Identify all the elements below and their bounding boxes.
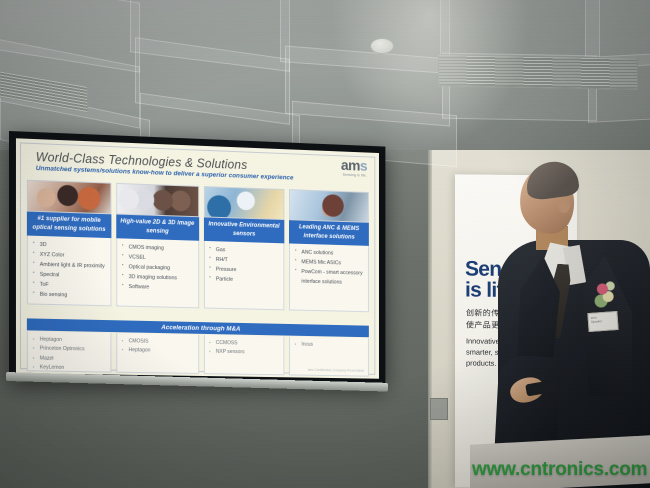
ma-column-imaging: CMOSIS Heptagon — [116, 333, 199, 374]
list-item: PowCom - smart accessory interface solut… — [295, 267, 365, 288]
presentation-slide: World-Class Technologies & Solutions Unm… — [16, 138, 379, 378]
list-item: Software — [122, 282, 195, 294]
presenter-name-badge: ams Speaker — [587, 311, 618, 332]
projector-screen: World-Class Technologies & Solutions Unm… — [9, 131, 385, 386]
wall-socket — [430, 398, 448, 420]
tablet-user-photo — [203, 186, 284, 220]
column-anc-mems: Leading ANC & MEMS interface solutions A… — [289, 189, 369, 312]
presenter-ear — [558, 198, 570, 213]
3d-face-scan-photo — [116, 183, 199, 217]
column-header: Leading ANC & MEMS interface solutions — [289, 220, 369, 245]
ams-logo-icon: ams Sensing is life. — [341, 158, 367, 178]
column-body: 3D XYZ Color Ambient light & IR proximit… — [27, 235, 111, 306]
woman-in-car-photo — [289, 189, 369, 223]
column-header: #1 supplier for mobile optical sensing s… — [27, 212, 111, 238]
ceiling — [0, 0, 650, 150]
solution-columns: #1 supplier for mobile optical sensing s… — [27, 180, 369, 312]
group-selfie-photo — [27, 180, 111, 215]
column-header: Innovative Environmental sensors — [203, 217, 284, 243]
list-item: NXP sensors — [209, 348, 281, 358]
ma-column-environmental: CCMOSS NXP sensors — [203, 335, 284, 375]
list-item: Incus — [295, 341, 365, 351]
ams-logo-s: s — [360, 158, 367, 175]
list-item: Heptagon — [122, 346, 195, 357]
column-optical: #1 supplier for mobile optical sensing s… — [27, 180, 111, 306]
column-body: ANC solutions MEMS Mic ASICs PowCom - sm… — [289, 243, 369, 312]
badge-line2: Speaker — [591, 318, 615, 324]
presenter-boutonniere — [592, 280, 618, 310]
column-header: High-value 2D & 3D image sensing — [116, 215, 199, 241]
column-environmental: Innovative Environmental sensors Gas RH/… — [203, 186, 284, 310]
slide-footer: ams Confidential | Company Presentation — [308, 368, 364, 374]
list-item: Particle — [209, 274, 281, 286]
ma-column-optical: Heptagon Princeton Optronics Mazet KeyLe… — [27, 331, 111, 372]
ams-logo-mark: am — [341, 157, 360, 174]
list-item: Bio sensing — [33, 289, 107, 301]
column-body: CMOS imaging VCSEL Optical packaging 3D … — [116, 238, 199, 308]
column-body: Gas RH/T Pressure Particle — [203, 241, 284, 310]
column-imaging: High-value 2D & 3D image sensing CMOS im… — [116, 183, 199, 308]
watermark: www.cntronics.com — [472, 459, 647, 481]
photo-scene: World-Class Technologies & Solutions Unm… — [0, 0, 650, 488]
